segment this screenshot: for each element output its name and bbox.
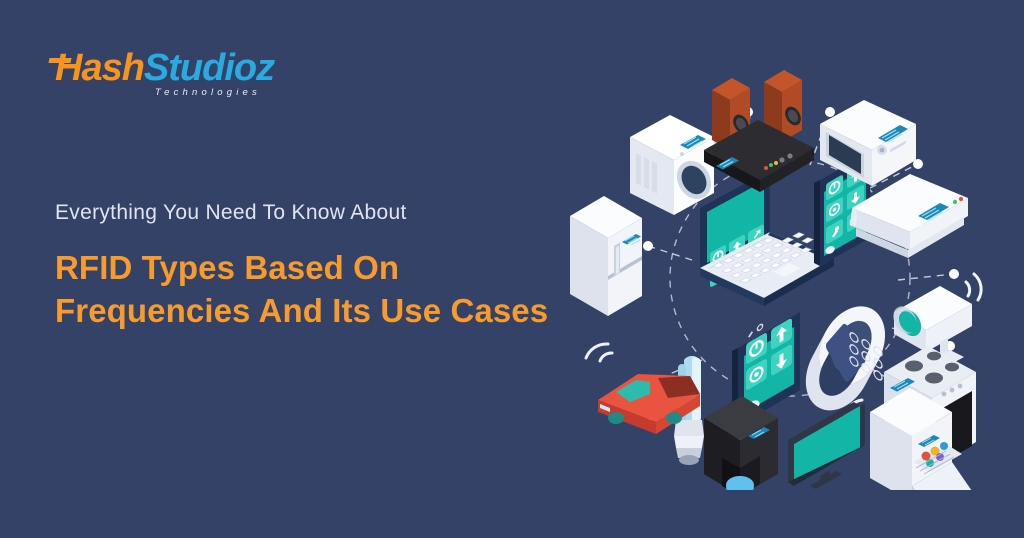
blog-banner: HashStudioz Technologies Everything You … xyxy=(0,0,1024,538)
speaker-system-icon xyxy=(704,70,814,192)
iot-connected-devices-illustration xyxy=(552,60,1024,490)
smartwatch-device xyxy=(793,295,899,422)
logo-wordmark: HashStudioz xyxy=(55,48,265,88)
logo-text-hash: Hash xyxy=(55,47,144,89)
logo-text-studioz: Studioz xyxy=(144,47,274,89)
refrigerator-icon xyxy=(570,196,642,316)
television-icon xyxy=(788,400,865,489)
hashstudioz-logo[interactable]: HashStudioz Technologies xyxy=(55,48,265,104)
washing-machine-icon xyxy=(630,115,718,215)
coffee-maker-icon xyxy=(704,396,778,490)
wifi-signal-icon xyxy=(586,344,612,361)
wifi-signal-icon xyxy=(966,274,981,300)
